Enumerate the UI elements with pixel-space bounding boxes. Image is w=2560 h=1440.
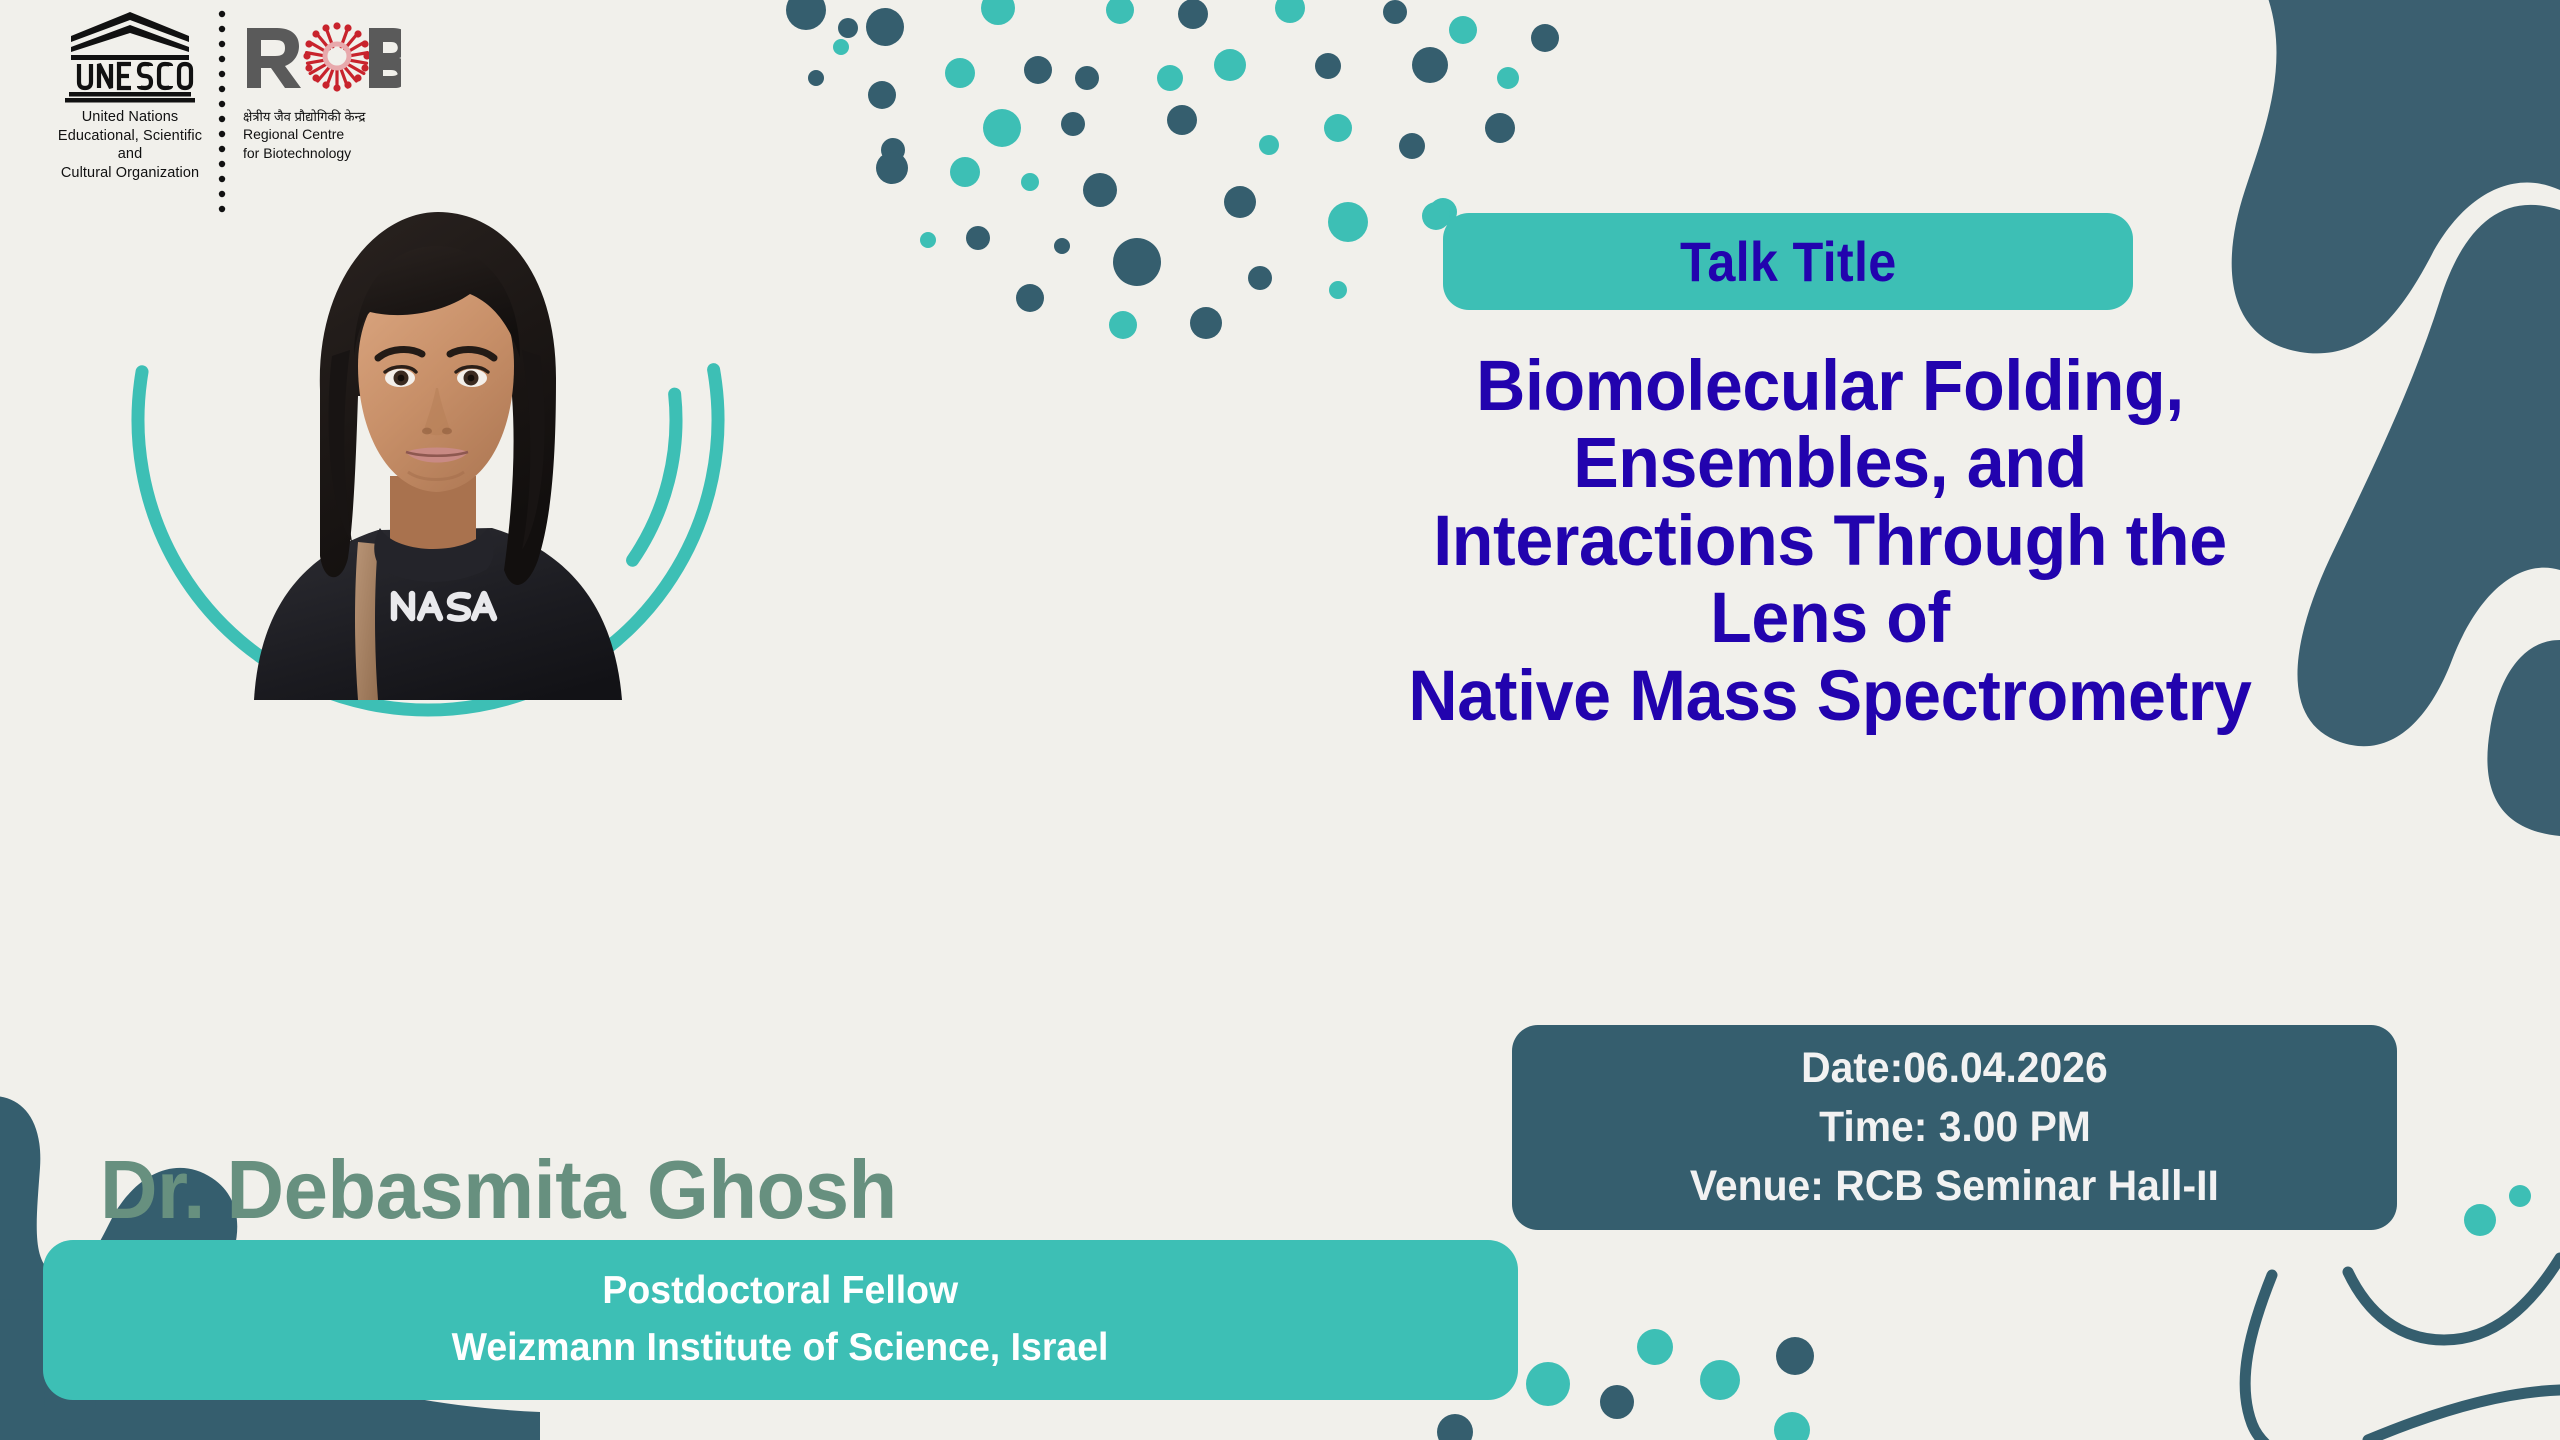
talk-title-badge: Talk Title (1443, 213, 2133, 310)
rcb-line-hindi: क्षेत्रीय जैव प्रौद्योगिकी केन्द्र (243, 108, 419, 125)
talk-title-line-1: Biomolecular Folding, (1158, 348, 2502, 425)
curve-bottom-right-3 (2368, 1390, 2560, 1440)
talk-title-line-3: Interactions Through the (1158, 503, 2502, 580)
unesco-temple-icon (65, 8, 195, 103)
speaker-position: Postdoctoral Fellow (603, 1268, 959, 1315)
event-time: Time: 3.00 PM (1819, 1100, 2091, 1155)
rcb-caption: क्षेत्रीय जैव प्रौद्योगिकी केन्द्र Regio… (241, 108, 419, 162)
unesco-line-1: United Nations (45, 108, 215, 127)
talk-title-badge-label: Talk Title (1680, 229, 1897, 294)
speaker-name: Dr. Debasmita Ghosh (100, 1142, 897, 1238)
rcb-line-1: Regional Centre (243, 125, 419, 143)
talk-title-line-4: Lens of (1158, 580, 2502, 657)
unesco-logo: United Nations Educational, Scientific a… (0, 8, 215, 182)
talk-title-line-2: Ensembles, and (1158, 425, 2502, 502)
event-venue: Venue: RCB Seminar Hall-II (1690, 1159, 2219, 1214)
speaker-portrait (182, 160, 682, 700)
unesco-line-2: Educational, Scientific and (45, 127, 215, 164)
talk-title: Biomolecular Folding, Ensembles, and Int… (1130, 348, 2530, 735)
curve-bottom-right-1 (2245, 1275, 2390, 1440)
affiliation-banner: Postdoctoral Fellow Weizmann Institute o… (43, 1240, 1518, 1400)
blob-top-right (2232, 0, 2560, 353)
portrait-photo (182, 160, 682, 700)
rcb-logo: क्षेत्रीय जैव प्रौद्योगिकी केन्द्र Regio… (229, 8, 419, 162)
speaker-institution: Weizmann Institute of Science, Israel (452, 1325, 1109, 1372)
event-date: Date:06.04.2026 (1801, 1041, 2108, 1096)
talk-title-line-5: Native Mass Spectrometry (1158, 658, 2502, 735)
rcb-sunburst (303, 22, 370, 91)
seminar-poster: United Nations Educational, Scientific a… (0, 0, 2560, 1440)
rcb-wordmark-icon (241, 8, 401, 103)
event-details-box: Date:06.04.2026 Time: 3.00 PM Venue: RCB… (1512, 1025, 2397, 1230)
curve-bottom-right-2 (2348, 1258, 2560, 1340)
